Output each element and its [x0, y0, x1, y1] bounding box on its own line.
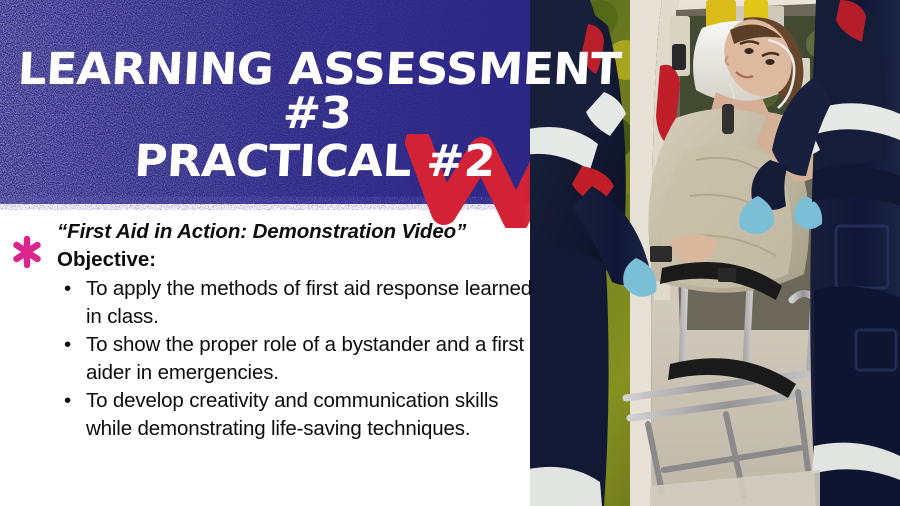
list-item: • To show the proper role of a bystander…: [86, 331, 534, 387]
list-item: • To apply the methods of first aid resp…: [86, 275, 534, 331]
list-item: • To develop creativity and communicatio…: [86, 387, 534, 443]
objective-label: Objective:: [57, 246, 534, 273]
bullet-glyph: •: [64, 275, 71, 303]
list-item-label: To develop creativity and communication …: [86, 389, 498, 440]
slide-canvas: Learning Assessment #3 Practical #2: [0, 0, 900, 506]
title-line-2: Practical #2: [0, 140, 642, 184]
list-item-label: To show the proper role of a bystander a…: [86, 333, 524, 384]
objective-text-block: “First Aid in Action: Demonstration Vide…: [0, 219, 534, 443]
title-line-1: Learning Assessment #3: [0, 48, 647, 136]
video-title-quote: “First Aid in Action: Demonstration Vide…: [57, 219, 534, 245]
objective-bullet-list: • To apply the methods of first aid resp…: [0, 275, 534, 443]
page-title: Learning Assessment #3 Practical #2: [0, 48, 638, 184]
list-item-label: To apply the methods of first aid respon…: [86, 277, 532, 328]
bullet-glyph: •: [64, 331, 71, 359]
bullet-glyph: •: [64, 387, 71, 415]
asterisk-icon: [11, 234, 43, 270]
